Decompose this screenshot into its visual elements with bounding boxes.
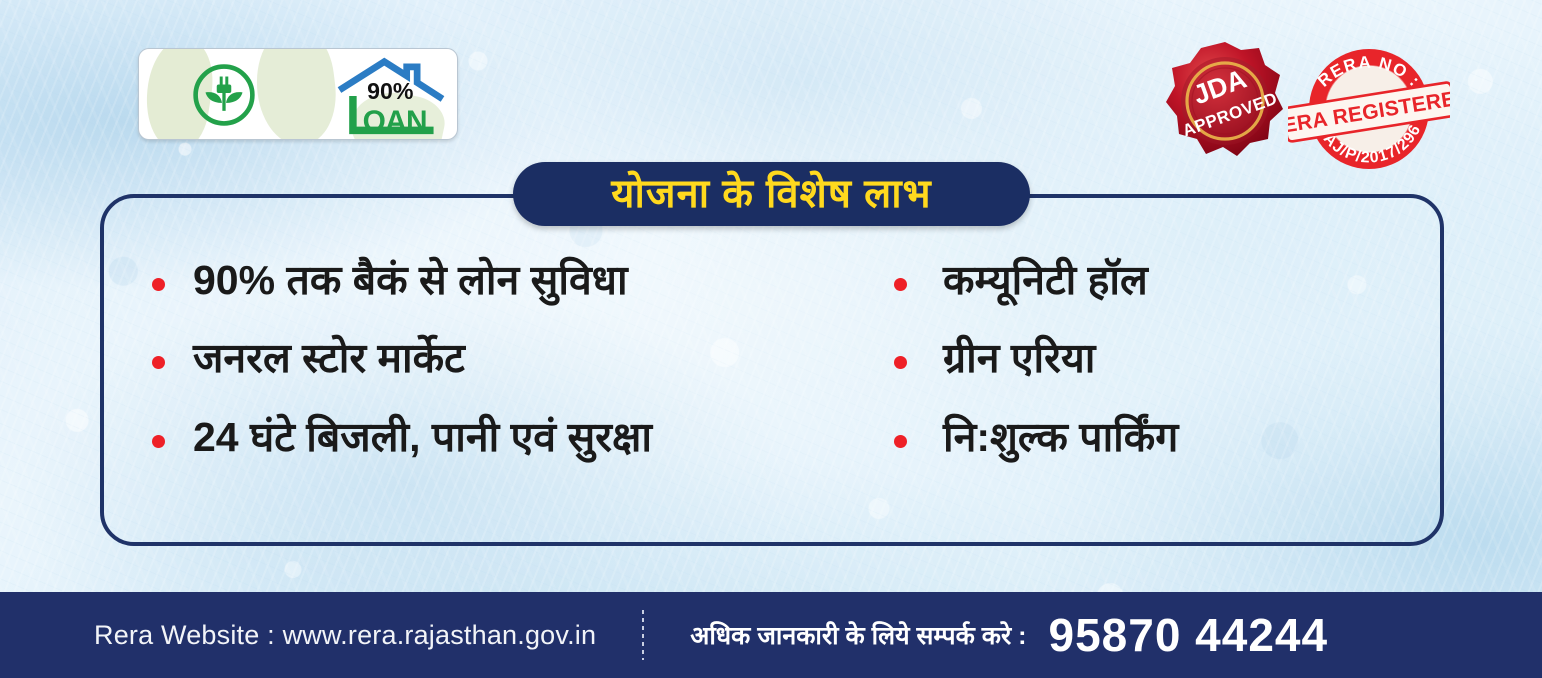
svg-text:90%: 90%: [367, 78, 413, 104]
benefits-column-left: 90% तक बैकं से लोन सुविधा जनरल स्टोर मार…: [104, 256, 864, 542]
benefit-list-item: 24 घंटे बिजली, पानी एवं सुरक्षा: [152, 413, 864, 461]
eco-plug-plant-icon: [191, 62, 257, 128]
benefits-column-right: कम्यूनिटी हॉल ग्रीन एरिया नि:शुल्क पार्क…: [864, 256, 1424, 542]
benefit-list-item: जनरल स्टोर मार्केट: [152, 334, 864, 382]
benefit-list-item: 90% तक बैकं से लोन सुविधा: [152, 256, 864, 304]
bullet-dot-icon: [894, 278, 907, 291]
footer-bar: Rera Website : www.rera.rajasthan.gov.in…: [0, 592, 1542, 678]
contact-phone-number[interactable]: 95870 44244: [1048, 608, 1328, 662]
benefit-text: कम्यूनिटी हॉल: [943, 256, 1148, 304]
bullet-dot-icon: [894, 356, 907, 369]
eco-loan-badge-card: 90% OAN: [138, 48, 458, 140]
rera-registered-stamp: RERA NO : RAJ/P/2017/296 RERA REGISTERED: [1288, 33, 1450, 175]
benefits-columns: 90% तक बैकं से लोन सुविधा जनरल स्टोर मार…: [104, 198, 1440, 542]
benefit-text: ग्रीन एरिया: [943, 334, 1095, 382]
leaf-shape-decor: [250, 48, 342, 140]
jda-approved-seal: JDA APPROVED: [1163, 38, 1287, 166]
benefit-list-item: कम्यूनिटी हॉल: [894, 256, 1424, 304]
bullet-dot-icon: [152, 356, 165, 369]
bullet-dot-icon: [894, 435, 907, 448]
svg-text:OAN: OAN: [363, 105, 427, 135]
contact-label: अधिक जानकारी के लिये सम्पर्क करे :: [690, 618, 1026, 652]
benefit-text: जनरल स्टोर मार्केट: [193, 334, 465, 382]
benefit-text: 24 घंटे बिजली, पानी एवं सुरक्षा: [193, 413, 652, 461]
benefit-text: 90% तक बैकं से लोन सुविधा: [193, 256, 628, 304]
benefit-list-item: नि:शुल्क पार्किंग: [894, 413, 1424, 461]
bullet-dot-icon: [152, 435, 165, 448]
ninety-percent-loan-icon: 90% OAN: [335, 57, 447, 135]
benefit-list-item: ग्रीन एरिया: [894, 334, 1424, 382]
benefit-text: नि:शुल्क पार्किंग: [943, 413, 1178, 461]
footer-divider: [642, 610, 644, 660]
section-title-banner: योजना के विशेष लाभ: [513, 162, 1030, 226]
benefits-panel: 90% तक बैकं से लोन सुविधा जनरल स्टोर मार…: [100, 194, 1444, 546]
rera-website-text[interactable]: Rera Website : www.rera.rajasthan.gov.in: [94, 620, 596, 651]
page-title: योजना के विशेष लाभ: [611, 174, 931, 214]
bullet-dot-icon: [152, 278, 165, 291]
